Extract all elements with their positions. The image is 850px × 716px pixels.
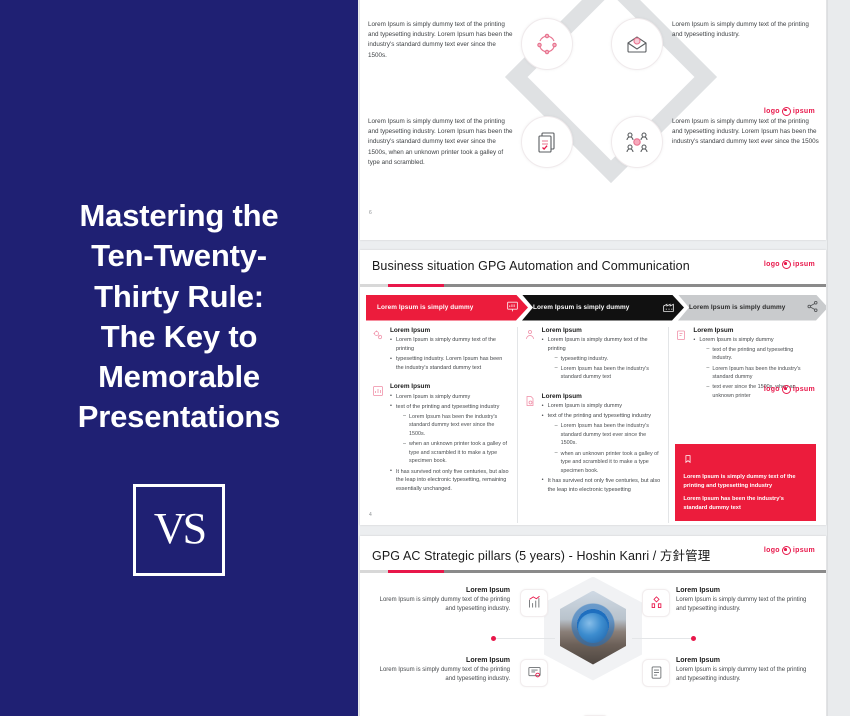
sub-bullet-list: typesetting industry. Lorem Ipsum has be… <box>548 355 663 382</box>
slide-preview-page: Mastering the Ten-Twenty- Thirty Rule: T… <box>0 0 850 716</box>
slide-scroll-column[interactable]: Lorem Ipsum is simply dummy text of the … <box>358 0 850 716</box>
brand-logo-box: VS <box>133 484 225 576</box>
bullet-text: Lorem Ipsum is simply dummy <box>699 337 773 343</box>
factory-building-icon <box>662 300 675 315</box>
block-heading: Lorem Ipsum <box>390 383 511 390</box>
content-column-2: Lorem Ipsum Lorem Ipsum is simply dummy … <box>517 327 669 523</box>
slide-3-body: Lorem Ipsum Lorem Ipsum is simply dummy … <box>360 573 826 716</box>
slide-page-number: 4 <box>369 512 372 518</box>
monitor-settings-icon <box>520 659 548 687</box>
documents-checklist-icon <box>521 116 573 168</box>
node-body: Lorem Ipsum is simply dummy text of the … <box>676 666 812 685</box>
slide-thumbnail-1[interactable]: Lorem Ipsum is simply dummy text of the … <box>360 0 826 240</box>
chevron-tab-2-label: Lorem Ipsum is simply dummy <box>533 304 629 311</box>
content-block-body: Lorem Ipsum Lorem Ipsum is simply dummy … <box>542 327 663 384</box>
bullet-item: text of the printing and typesetting ind… <box>390 403 511 466</box>
logo-text-right: ipsum <box>793 386 815 393</box>
block-heading: Lorem Ipsum <box>542 327 663 334</box>
chevron-tab-2[interactable]: Lorem Ipsum is simply dummy <box>522 295 684 321</box>
node-heading: Lorem Ipsum <box>676 657 812 664</box>
bullet-item: It has survived not only five centuries,… <box>390 468 511 494</box>
sub-bullet-item: Lorem Ipsum has been the industry's stan… <box>555 365 663 382</box>
logo-ring-icon <box>782 107 791 116</box>
content-block: Lorem Ipsum Lorem Ipsum is simply dummy … <box>524 327 663 384</box>
logo-text-left: logo <box>764 386 780 393</box>
connector-dot-left <box>491 636 496 641</box>
team-group-icon <box>611 116 663 168</box>
slide-footer-logo: logo ipsum <box>764 260 815 519</box>
logo-text-left: logo <box>764 108 780 115</box>
rule-segment-accent <box>388 284 444 287</box>
logo-text-right: ipsum <box>793 108 815 115</box>
bullet-item: Lorem Ipsum is simply dummy text of the … <box>542 336 663 382</box>
slide-2-header: Business situation GPG Automation and Co… <box>360 250 826 284</box>
target-chart-icon <box>372 383 385 495</box>
node-body: Lorem Ipsum is simply dummy text of the … <box>374 666 510 685</box>
slide-2-title: Business situation GPG Automation and Co… <box>372 259 690 273</box>
sub-bullet-list: Lorem Ipsum has been the industry's stan… <box>396 413 511 466</box>
bullet-item: Lorem Ipsum is simply dummy <box>390 393 511 402</box>
sub-bullet-list: Lorem Ipsum has been the industry's stan… <box>548 422 663 475</box>
three-column-content: Lorem Ipsum Lorem Ipsum is simply dummy … <box>366 327 820 523</box>
logo-ring-icon <box>782 385 791 394</box>
content-block: Lorem Ipsum Lorem Ipsum is simply dummy … <box>524 393 663 497</box>
people-group-icon <box>524 327 537 384</box>
spoke-left <box>493 638 555 640</box>
sub-bullet-item: when an unknown printer took a galley of… <box>403 440 511 466</box>
node-heading: Lorem Ipsum <box>374 657 510 664</box>
content-block-body: Lorem Ipsum Lorem Ipsum is simply dummy … <box>390 383 511 495</box>
bullet-text: text of the printing and typesetting ind… <box>548 413 651 419</box>
content-block-body: Lorem Ipsum Lorem Ipsum is simply dummy … <box>390 327 511 375</box>
bullet-item: It has survived not only five centuries,… <box>542 477 663 495</box>
handshake-gear-icon <box>642 589 670 617</box>
node-body: Lorem Ipsum is simply dummy text of the … <box>676 596 812 615</box>
node-heading: Lorem Ipsum <box>374 587 510 594</box>
network-cycle-icon <box>521 18 573 70</box>
node-text-bottom-left: Lorem Ipsum Lorem Ipsum is simply dummy … <box>374 657 510 685</box>
bullet-list: Lorem Ipsum is simply dummy text of the … <box>390 336 511 373</box>
spoke-right <box>632 638 694 640</box>
logo-text-right: ipsum <box>793 547 815 554</box>
slide-3-header: GPG AC Strategic pillars (5 years) - Hos… <box>360 536 826 570</box>
slide-thumbnail-2[interactable]: Business situation GPG Automation and Co… <box>360 250 826 525</box>
presentation-chart-icon <box>506 300 519 315</box>
slide-thumbnail-3[interactable]: GPG AC Strategic pillars (5 years) - Hos… <box>360 536 826 716</box>
bullet-item: Lorem Ipsum is simply dummy <box>542 402 663 411</box>
logo-text-left: logo <box>764 547 780 554</box>
document-gear-icon <box>524 393 537 497</box>
slide-header-logo: logo ipsum <box>764 546 815 555</box>
bullet-item: typesetting industry. Lorem Ipsum has be… <box>390 355 511 373</box>
quadrant-text-3: Lorem Ipsum is simply dummy text of the … <box>368 117 516 168</box>
block-heading: Lorem Ipsum <box>390 327 511 334</box>
vs-monogram: VS <box>154 507 204 551</box>
content-block: Lorem Ipsum Lorem Ipsum is simply dummy … <box>372 327 511 375</box>
bullet-list: Lorem Ipsum is simply dummy text of the … <box>390 393 511 494</box>
node-body: Lorem Ipsum is simply dummy text of the … <box>374 596 510 615</box>
title-panel: Mastering the Ten-Twenty- Thirty Rule: T… <box>0 0 358 716</box>
chevron-tab-1[interactable]: Lorem Ipsum is simply dummy <box>366 295 528 321</box>
sub-bullet-item: typesetting industry. <box>555 355 663 364</box>
sub-bullet-item: Lorem Ipsum has been the industry's stan… <box>403 413 511 439</box>
slide-1-body: Lorem Ipsum is simply dummy text of the … <box>360 0 826 240</box>
sub-bullet-item: Lorem Ipsum has been the industry's stan… <box>555 422 663 448</box>
bar-chart-growth-icon <box>520 589 548 617</box>
bullet-list: Lorem Ipsum is simply dummy text of the … <box>542 402 663 495</box>
node-text-top-left: Lorem Ipsum Lorem Ipsum is simply dummy … <box>374 587 510 615</box>
open-envelope-icon <box>611 18 663 70</box>
sub-bullet-item: when an unknown printer took a galley of… <box>555 450 663 476</box>
content-block: Lorem Ipsum Lorem Ipsum is simply dummy … <box>372 383 511 495</box>
header-rule <box>360 284 826 287</box>
node-heading: Lorem Ipsum <box>676 587 812 594</box>
bullet-text: Lorem Ipsum is simply dummy text of the … <box>548 337 648 352</box>
bullet-item: Lorem Ipsum is simply dummy text of the … <box>390 336 511 354</box>
block-heading: Lorem Ipsum <box>542 393 663 400</box>
connector-dot-right <box>691 636 696 641</box>
chevron-tab-row: Lorem Ipsum is simply dummy Lorem Ipsum … <box>366 295 820 321</box>
quadrant-text-1: Lorem Ipsum is simply dummy text of the … <box>368 20 516 61</box>
slide-footer-logo: logo ipsum <box>764 0 815 228</box>
clipboard-flag-icon <box>675 327 688 403</box>
bullet-item: text of the printing and typesetting ind… <box>542 412 663 475</box>
checklist-device-icon <box>642 659 670 687</box>
slide-3-title: GPG AC Strategic pillars (5 years) - Hos… <box>372 545 710 564</box>
slide-page-number: 6 <box>369 210 372 216</box>
bullet-text: text of the printing and typesetting ind… <box>396 404 499 410</box>
center-hexagon-photo <box>560 591 626 665</box>
page-title: Mastering the Ten-Twenty- Thirty Rule: T… <box>14 196 344 438</box>
title-block: Mastering the Ten-Twenty- Thirty Rule: T… <box>14 196 344 438</box>
gears-icon <box>372 327 385 375</box>
node-text-bottom-right: Lorem Ipsum Lorem Ipsum is simply dummy … <box>676 657 812 685</box>
logo-ring-icon <box>782 546 791 555</box>
bullet-list: Lorem Ipsum is simply dummy text of the … <box>542 336 663 382</box>
content-block-body: Lorem Ipsum Lorem Ipsum is simply dummy … <box>542 393 663 497</box>
node-text-top-right: Lorem Ipsum Lorem Ipsum is simply dummy … <box>676 587 812 615</box>
scroll-gutter[interactable] <box>827 0 850 716</box>
rule-segment-grey <box>360 284 388 287</box>
content-column-1: Lorem Ipsum Lorem Ipsum is simply dummy … <box>366 327 517 523</box>
chevron-tab-1-label: Lorem Ipsum is simply dummy <box>377 304 473 311</box>
